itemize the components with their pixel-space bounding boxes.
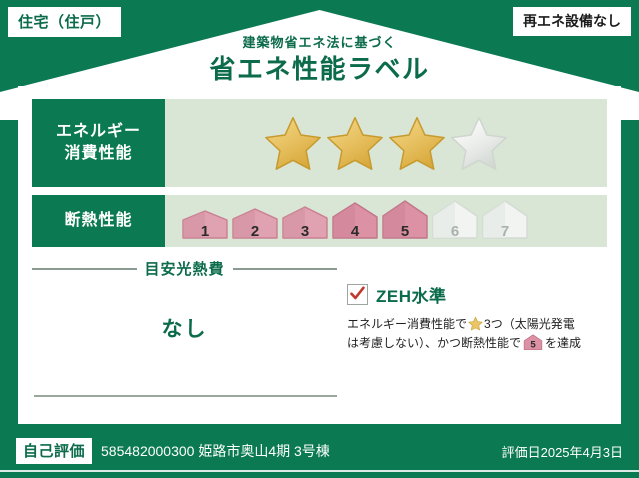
zeh-checkbox[interactable]	[347, 284, 368, 305]
zeh-desc-part4: を達成	[545, 336, 581, 350]
star-icon-filled-1	[263, 114, 323, 172]
evaluation-date: 評価日2025年4月3日	[502, 442, 623, 461]
zeh-title: ZEH水準	[376, 282, 447, 307]
svg-text:5: 5	[530, 339, 536, 349]
utility-cost-value: なし	[32, 313, 337, 343]
energy-label-line2: 消費性能	[64, 143, 132, 165]
utility-cost-heading: 目安光熱費	[32, 258, 337, 279]
star-icon-empty-4	[449, 114, 509, 172]
renewable-equipment-tag: 再エネ設備なし	[513, 7, 631, 36]
label-footer: 自己評価 585482000300 姫路市奥山4期 3号棟 評価日2025年4月…	[0, 424, 639, 478]
zeh-section: ZEH水準 エネルギー消費性能で3つ（太陽光発電は考慮しない）、かつ断熱性能で5…	[347, 282, 609, 355]
cost-rule-left	[32, 268, 137, 270]
energy-performance-value	[165, 99, 607, 187]
insulation-level-scale: 1 2 3	[181, 199, 529, 244]
check-icon	[349, 285, 366, 302]
zeh-desc-part2: 3つ（太陽光発電	[484, 317, 575, 331]
footer-content: 自己評価 585482000300 姫路市奥山4期 3号棟 評価日2025年4月…	[16, 438, 623, 464]
utility-cost-bottom-rule	[34, 395, 337, 397]
star-rating	[263, 114, 509, 172]
energy-performance-row: エネルギー 消費性能	[32, 99, 607, 187]
insulation-level-3: 3	[281, 205, 329, 244]
energy-label-line1: エネルギー	[56, 121, 141, 143]
zeh-desc-part3: は考慮しない）、かつ断熱性能で	[347, 336, 521, 350]
insulation-performance-value: 1 2 3	[165, 195, 607, 247]
evaluation-type-badge: 自己評価	[16, 438, 92, 464]
zeh-desc-part1: エネルギー消費性能で	[347, 317, 467, 331]
zeh-description: エネルギー消費性能で3つ（太陽光発電は考慮しない）、かつ断熱性能で5を達成	[347, 315, 609, 355]
house-icon-1	[181, 209, 229, 239]
footer-rule	[0, 470, 639, 472]
energy-label-root: 住宅（住戸） 再エネ設備なし 建築物省エネ法に基づく 省エネ性能ラベル エネルギ…	[0, 0, 639, 478]
star-icon-filled-3	[387, 114, 447, 172]
insulation-performance-label: 断熱性能	[32, 195, 165, 247]
star-icon-filled-2	[325, 114, 385, 172]
house-icon-7	[481, 199, 529, 239]
energy-performance-label: エネルギー 消費性能	[32, 99, 165, 187]
house-icon-2	[231, 207, 279, 239]
label-card: エネルギー 消費性能	[18, 86, 621, 424]
zeh-heading: ZEH水準	[347, 282, 609, 307]
house-icon-5	[381, 199, 429, 239]
house-icon-3	[281, 205, 329, 239]
house-icon-4	[331, 201, 379, 239]
insulation-label-text: 断熱性能	[64, 210, 132, 232]
insulation-level-1: 1	[181, 209, 229, 244]
insulation-level-4: 4	[331, 201, 379, 244]
building-identifier: 585482000300 姫路市奥山4期 3号棟	[101, 441, 330, 461]
insulation-level-2: 2	[231, 207, 279, 244]
utility-cost-title: 目安光熱費	[145, 258, 225, 279]
star-icon-inline	[468, 316, 483, 331]
house-icon-6	[431, 199, 479, 239]
category-tag: 住宅（住戸）	[8, 7, 121, 37]
zeh-insulation-badge: 5	[523, 334, 543, 356]
insulation-level-6: 6	[431, 199, 479, 244]
utility-cost-section: 目安光熱費 なし	[32, 258, 337, 408]
cost-rule-right	[233, 268, 338, 270]
insulation-level-7: 7	[481, 199, 529, 244]
house-icon-inline: 5	[523, 334, 543, 350]
insulation-performance-row: 断熱性能 1	[32, 195, 607, 247]
insulation-level-5: 5	[381, 199, 429, 244]
